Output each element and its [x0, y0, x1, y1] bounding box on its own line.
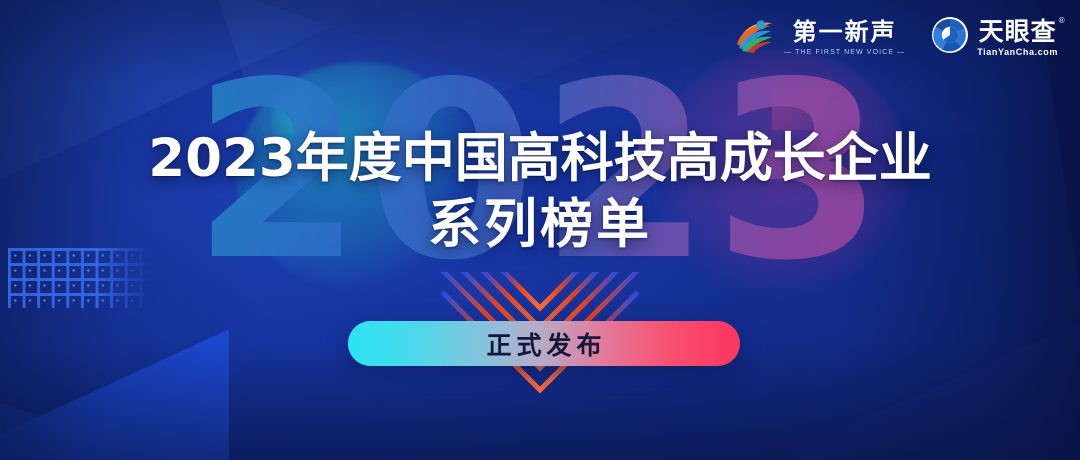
first-voice-tagline: — THE FIRST NEW VOICE — [784, 49, 905, 56]
first-voice-logo-icon [734, 17, 776, 58]
page-title-line-2: 系列榜单 [0, 194, 1080, 256]
release-status-label: 正式发布 [481, 326, 606, 362]
tianyancha-logo-icon [931, 16, 969, 59]
tianyancha-logo[interactable]: 天眼查® TianYanCha.com [931, 16, 1058, 59]
tianyancha-tagline: TianYanCha.com [977, 48, 1058, 57]
release-status-pill[interactable]: 正式发布 [348, 321, 740, 366]
trademark-symbol: ® [1058, 17, 1066, 25]
page-title-line-1: 2023年度中国高科技高成长企业 [0, 128, 1080, 190]
first-voice-logo[interactable]: 第一新声 — THE FIRST NEW VOICE — [734, 17, 905, 58]
logo-bar: 第一新声 — THE FIRST NEW VOICE — [734, 16, 1058, 59]
tianyancha-name: 天眼查® [979, 19, 1057, 44]
headline-block: 2023年度中国高科技高成长企业 系列榜单 [0, 128, 1080, 256]
tianyancha-logo-text: 天眼查® TianYanCha.com [977, 19, 1058, 57]
first-voice-logo-text: 第一新声 — THE FIRST NEW VOICE — [784, 20, 905, 56]
first-voice-name: 第一新声 [793, 20, 897, 44]
promo-banner: 2023 2023年度中 [0, 0, 1080, 460]
tianyancha-name-text: 天眼查 [979, 17, 1057, 46]
